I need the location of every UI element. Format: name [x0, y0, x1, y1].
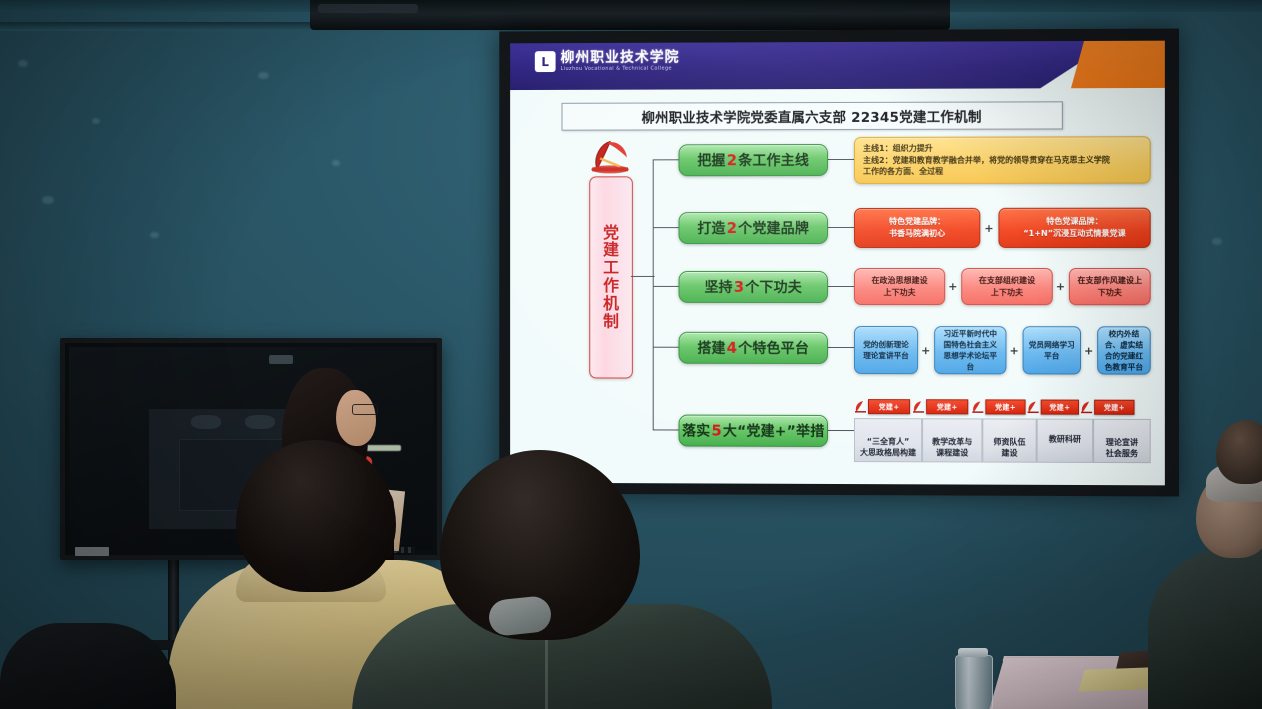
detail-platform-box-3: 党员网络学习平台: [1023, 326, 1081, 374]
effort-2-line-2: 上下功夫: [979, 287, 1035, 299]
measure-badge-2: 党建+: [926, 399, 968, 414]
measure-1-line-2: 大思政格局构建: [860, 447, 916, 459]
effort-3-line-2: 下功夫: [1077, 287, 1142, 299]
row-4-label-num: 4: [726, 339, 739, 357]
primary-box-measures[interactable]: 落实5大“党建+”举措: [679, 415, 828, 447]
detail-effort-box-3: 在支部作风建设上 下功夫: [1069, 268, 1151, 305]
yellow-line-2: 主线2：党建和教育教学融合并举，将党的领导贯穿在马克思主义学院: [863, 154, 1110, 166]
college-logo: L 柳州职业技术学院 Liuzhou Vocational & Technica…: [535, 51, 680, 72]
platform-4-text: 校内外结合、虚实结合的党建红色教育平台: [1103, 328, 1144, 372]
measure-2-line-1: 教学改革与: [932, 436, 972, 448]
plus-sign-platforms-2: +: [1009, 344, 1018, 357]
primary-box-platforms[interactable]: 搭建4个特色平台: [679, 332, 828, 364]
banner-char-1: 建: [603, 242, 619, 259]
detail-platform-box-4: 校内外结合、虚实结合的党建红色教育平台: [1097, 326, 1151, 374]
measure-card-2: 教学改革与 课程建设: [922, 418, 982, 462]
banner-char-5: 制: [603, 313, 619, 330]
measure-badge-1: 党建+: [868, 399, 910, 414]
row-2-label-post: 个党建品牌: [738, 221, 809, 237]
measure-4-line-1: 教研科研: [1049, 434, 1081, 446]
row-2-label-pre: 打造: [697, 221, 725, 237]
measure-2-line-2: 课程建设: [932, 448, 972, 460]
plus-sign-platforms-1: +: [921, 344, 930, 357]
row-3-label-num: 3: [733, 278, 746, 296]
plus-sign-efforts-2: +: [1056, 280, 1065, 293]
presenter-glasses: [352, 404, 378, 415]
display-brand-label: [75, 547, 109, 556]
measure-5-line-1: 理论宣讲: [1106, 437, 1138, 449]
row-5-label-post: 大“党建+”举措: [723, 424, 824, 440]
measure-card-5: 理论宣讲 社会服务: [1093, 419, 1151, 463]
projected-slide-frame: L 柳州职业技术学院 Liuzhou Vocational & Technica…: [499, 29, 1179, 497]
effort-1-line-2: 上下功夫: [872, 287, 928, 299]
row-2-label-num: 2: [726, 219, 739, 237]
banner-char-0: 党: [603, 225, 619, 242]
connector-detail-3: [826, 286, 854, 287]
connector-branch-3: [653, 286, 679, 287]
connector-detail-4: [826, 347, 854, 348]
party-flag-icon-4: [1027, 400, 1040, 413]
header-orange-accent: [1071, 41, 1165, 89]
party-flag-icon-3: [971, 400, 984, 413]
water-bottle: [955, 655, 993, 709]
brand-2-line-1: 特色党课品牌：: [1023, 216, 1125, 228]
connector-branch-1: [653, 159, 679, 160]
row-3-label-post: 个下功夫: [745, 280, 802, 296]
banner-char-3: 作: [603, 278, 619, 295]
primary-box-main-lines[interactable]: 把握2条工作主线: [679, 144, 828, 176]
row-5-label-num: 5: [710, 422, 723, 440]
measure-badge-3: 党建+: [985, 399, 1025, 414]
detail-effort-box-2: 在支部组织建设 上下功夫: [961, 268, 1053, 305]
connector-detail-5: [826, 430, 854, 431]
brand-1-line-1: 特色党建品牌：: [889, 216, 945, 228]
logo-institution-en: Liuzhou Vocational & Technical College: [561, 67, 680, 72]
row-1-label-pre: 把握: [697, 153, 725, 169]
display-reflection-lamp: [269, 355, 293, 364]
measure-card-1: “三全育人” 大思政格局构建: [854, 418, 922, 462]
party-emblem-icon: [586, 136, 634, 180]
slide-title: 柳州职业技术学院党委直属六支部 22345党建工作机制: [641, 106, 981, 127]
row-1-label-post: 条工作主线: [738, 153, 809, 169]
connector-branch-4: [653, 347, 679, 348]
row-4-label-post: 个特色平台: [738, 341, 809, 357]
measure-card-4: 教研科研: [1037, 419, 1093, 463]
party-flag-icon-5: [1080, 401, 1093, 414]
water-bottle-cap: [958, 648, 988, 657]
connector-banner-to-trunk: [631, 276, 655, 277]
connector-trunk: [653, 159, 654, 430]
row-5-label-pre: 落实: [682, 424, 710, 440]
effort-2-line-1: 在支部组织建设: [979, 275, 1035, 287]
effort-1-line-1: 在政治思想建设: [872, 275, 928, 287]
measure-3-line-2: 建设: [993, 448, 1025, 460]
platform-2-text: 习近平新时代中国特色社会主义思想学术论坛平台: [940, 328, 1000, 372]
brand-2-line-2: “1+N”沉浸互动式情景党课: [1023, 228, 1125, 240]
connector-detail-1: [826, 159, 854, 160]
platform-3-text: 党员网络学习平台: [1029, 339, 1075, 361]
measure-3-line-1: 师资队伍: [993, 436, 1025, 448]
measure-badge-4: 党建+: [1041, 400, 1079, 415]
logo-institution-cn: 柳州职业技术学院: [561, 51, 680, 65]
roller-bracket: [318, 4, 418, 13]
detail-brand-box-2: 特色党课品牌： “1+N”沉浸互动式情景党课: [998, 208, 1150, 248]
yellow-line-1: 主线1：组织力提升: [863, 143, 1110, 155]
measure-1-line-1: “三全育人”: [860, 436, 916, 448]
detail-platform-box-2: 习近平新时代中国特色社会主义思想学术论坛平台: [934, 326, 1006, 374]
brand-1-line-2: 书香马院满初心: [889, 228, 945, 240]
plus-sign-efforts-1: +: [948, 280, 957, 293]
measure-badge-5: 党建+: [1094, 400, 1134, 415]
presentation-slide: L 柳州职业技术学院 Liuzhou Vocational & Technica…: [510, 41, 1165, 486]
effort-3-line-1: 在支部作风建设上: [1077, 275, 1142, 287]
connector-branch-5: [653, 429, 679, 430]
party-flag-icon-1: [854, 400, 867, 413]
left-vertical-banner: 党 建 工 作 机 制: [589, 176, 633, 378]
primary-box-efforts[interactable]: 坚持3个下功夫: [679, 271, 828, 303]
row-3-label-pre: 坚持: [704, 280, 732, 296]
reflection-emblem-1-icon: [191, 415, 221, 429]
classroom-photo-scene: L 柳州职业技术学院 Liuzhou Vocational & Technica…: [0, 0, 1262, 709]
detail-platform-box-1: 党的创新理论理论宣讲平台: [854, 326, 918, 374]
jacket-zipper: [545, 640, 548, 709]
connector-detail-2: [826, 227, 854, 228]
logo-mark-icon: L: [535, 51, 556, 72]
banner-char-2: 工: [603, 260, 619, 277]
plus-sign-platforms-3: +: [1084, 344, 1093, 357]
banner-char-4: 机: [603, 296, 619, 313]
row-1-label-num: 2: [726, 151, 739, 169]
presenter-face: [336, 390, 376, 446]
row-4-label-pre: 搭建: [697, 341, 725, 357]
detail-yellow-note: 主线1：组织力提升 主线2：党建和教育教学融合并举，将党的领导贯穿在马克思主义学…: [854, 136, 1151, 184]
primary-box-brands[interactable]: 打造2个党建品牌: [679, 212, 828, 244]
platform-1-text: 党的创新理论理论宣讲平台: [860, 339, 912, 361]
slide-title-box: 柳州职业技术学院党委直属六支部 22345党建工作机制: [562, 101, 1063, 130]
measure-card-3: 师资队伍 建设: [982, 418, 1036, 462]
detail-effort-box-1: 在政治思想建设 上下功夫: [854, 268, 945, 305]
slide-header: L 柳州职业技术学院 Liuzhou Vocational & Technica…: [510, 41, 1165, 90]
measure-5-line-2: 社会服务: [1106, 448, 1138, 460]
connector-branch-2: [653, 227, 679, 228]
yellow-line-3: 工作的各方面、全过程: [863, 166, 1110, 178]
party-flag-icon-2: [912, 400, 925, 413]
measures-group: 党建+ 党建+ 党建+ 党建+ 党建+ “三全育人” 大思政格局构建: [854, 396, 1151, 463]
plus-sign-brands: +: [984, 222, 993, 235]
detail-brand-box-1: 特色党建品牌： 书香马院满初心: [854, 208, 980, 248]
diagram-canvas: 党 建 工 作 机 制: [510, 133, 1165, 485]
